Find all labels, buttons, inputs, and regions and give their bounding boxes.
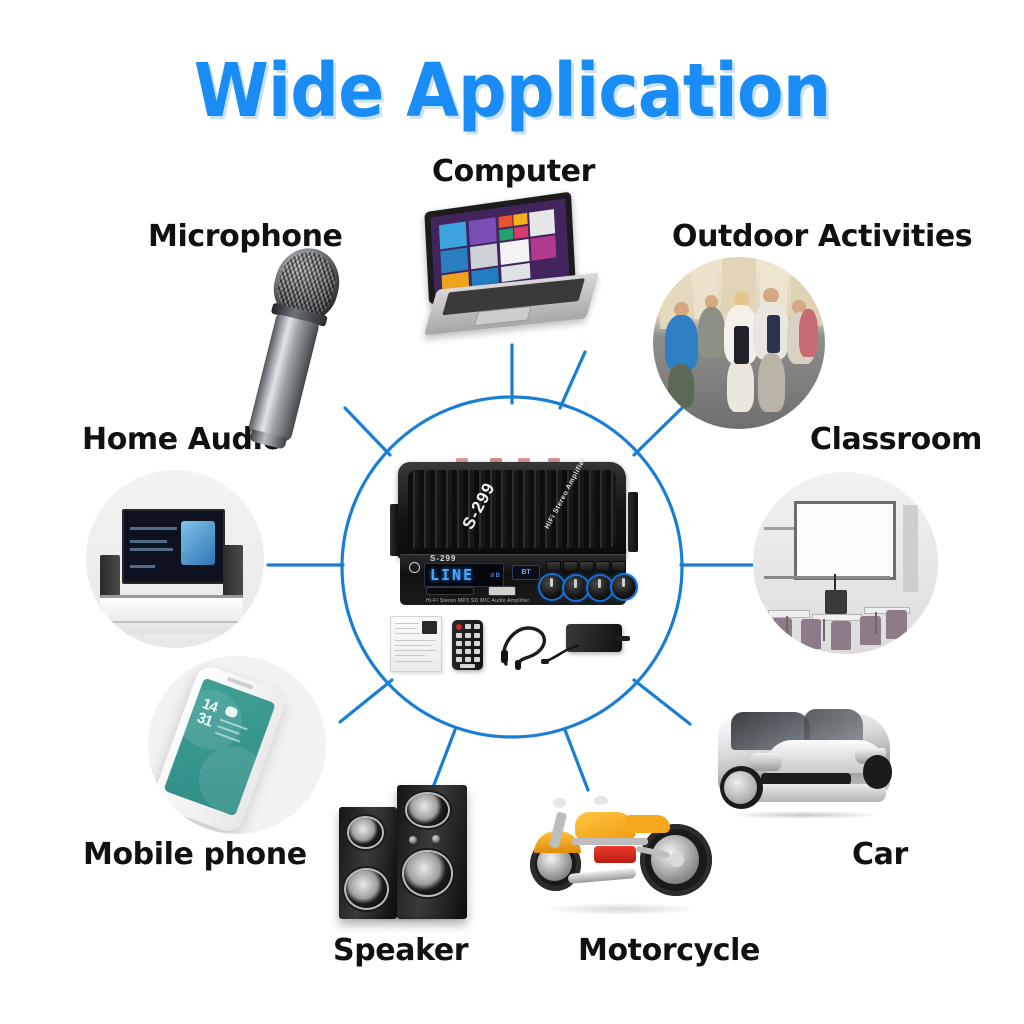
- remote-control: [452, 620, 483, 670]
- user-manual: [390, 616, 442, 672]
- amp-front-caption: Hi-Fi Stereo MP3 SD MIC Audio Amplifier: [426, 598, 529, 604]
- crowd-photo-icon: [653, 257, 825, 429]
- accessories-group: [390, 614, 638, 672]
- motorcycle-icon: [526, 776, 716, 916]
- label-outdoor-activities: Outdoor Activities: [672, 220, 972, 254]
- amp-knob-2: [564, 576, 588, 600]
- amp-model-front: S-299: [430, 554, 456, 563]
- label-mobile-phone: Mobile phone: [83, 838, 307, 872]
- amp-display-text: LINE: [430, 566, 474, 584]
- amp-display: LINE d B: [424, 563, 504, 587]
- microphone-icon: [252, 248, 372, 428]
- adapter-cord: [540, 644, 580, 668]
- label-computer: Computer: [432, 155, 595, 189]
- amp-display-unit: d B: [490, 573, 500, 579]
- classroom-photo-icon: [753, 472, 938, 654]
- amp-knob-3: [588, 576, 612, 600]
- label-motorcycle: Motorcycle: [578, 934, 760, 968]
- amplifier-product-image: S-299 HiFi Stereo Amplifier S-299 LINE d…: [398, 462, 630, 612]
- amp-knob-1: [540, 575, 564, 599]
- speaker-icon: [336, 782, 482, 922]
- bluetooth-badge: BT: [512, 565, 540, 580]
- label-car: Car: [852, 838, 908, 872]
- smartphone-icon: 14 31: [148, 656, 326, 834]
- label-classroom: Classroom: [810, 423, 982, 457]
- tv-home-theater-icon: [86, 470, 264, 648]
- label-speaker: Speaker: [333, 934, 468, 968]
- car-icon: [706, 694, 902, 822]
- amp-knob-4: [612, 575, 636, 599]
- laptop-icon: [415, 196, 605, 344]
- infographic-canvas: Wide Application Microphone: [0, 0, 1024, 1024]
